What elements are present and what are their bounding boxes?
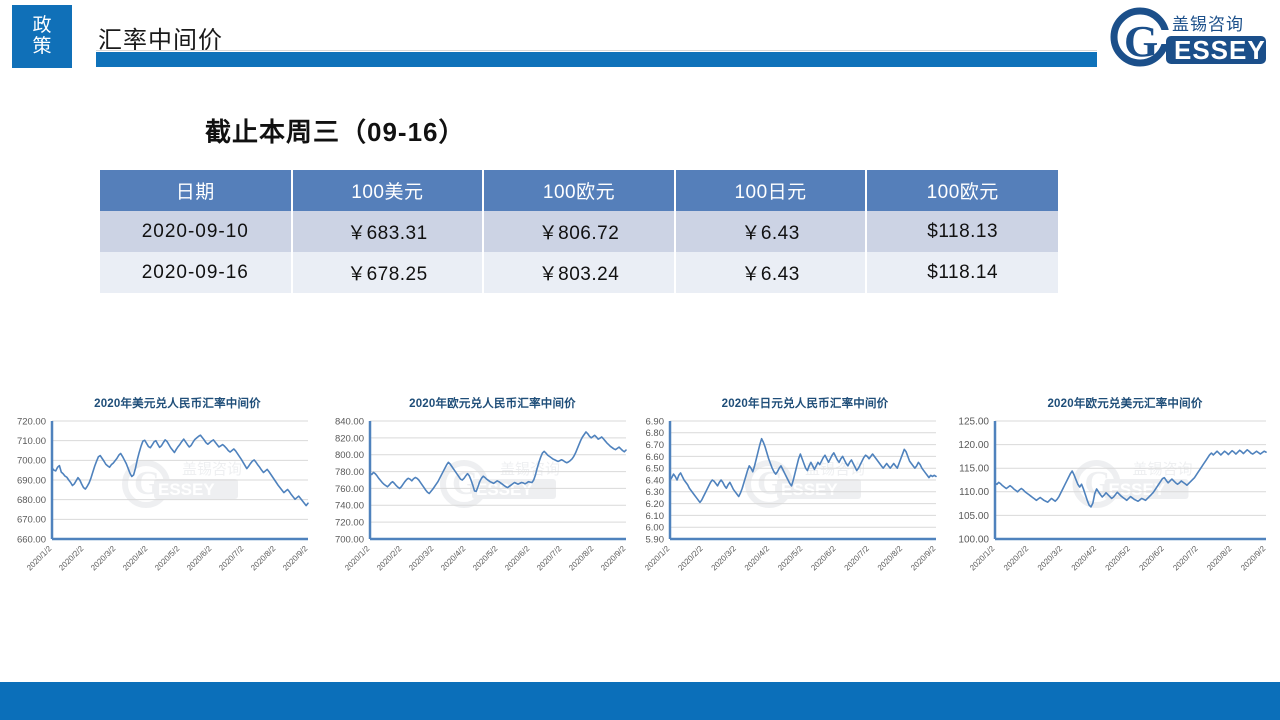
x-axis-tick-label: 2020/8/2 — [876, 544, 905, 573]
x-axis-tick-label: 2020/9/2 — [1239, 544, 1268, 573]
x-axis-tick-label: 2020/3/2 — [407, 544, 436, 573]
x-axis-tick-label: 2020/7/2 — [535, 544, 564, 573]
y-axis-tick-label: 6.10 — [646, 511, 665, 522]
x-axis-tick-label: 2020/1/2 — [25, 544, 54, 573]
y-axis-tick-label: 6.20 — [646, 499, 665, 510]
title-underline-bar — [96, 52, 1097, 67]
x-axis-tick-label: 2020/7/2 — [843, 544, 872, 573]
cell-date: 2020-09-16 — [100, 252, 292, 293]
cell-eurusd: $118.14 — [866, 252, 1058, 293]
x-axis-tick-label: 2020/3/2 — [710, 544, 739, 573]
y-axis-tick-label: 100.00 — [958, 534, 989, 545]
table-col-eurusd: 100欧元 — [866, 170, 1058, 211]
slide-root: 政 策 汇率中间价 G 盖锡咨询 ESSEY 截止本周三（09-16） 日期 1… — [0, 0, 1280, 720]
chart-svg: G盖锡咨询ESSEY660.00670.00680.00690.00700.00… — [0, 411, 320, 601]
x-axis-tick-label: 2020/9/2 — [909, 544, 938, 573]
y-axis-tick-label: 115.00 — [959, 464, 989, 475]
x-axis-tick-label: 2020/5/2 — [153, 544, 182, 573]
title-hairline — [96, 50, 1097, 51]
cell-eurusd: $118.13 — [866, 211, 1058, 252]
y-axis-tick-label: 6.70 — [646, 440, 665, 451]
x-axis-tick-label: 2020/2/2 — [375, 544, 404, 573]
footer-bar — [0, 682, 1280, 720]
table-header-row: 日期 100美元 100欧元 100日元 100欧元 — [100, 170, 1058, 211]
y-axis-tick-label: 680.00 — [17, 495, 46, 506]
y-axis-tick-label: 125.00 — [958, 416, 989, 427]
x-axis-tick-label: 2020/3/2 — [89, 544, 118, 573]
y-axis-tick-label: 6.50 — [646, 464, 665, 475]
x-axis-tick-label: 2020/4/2 — [1070, 544, 1099, 573]
table-row: 2020-09-16 ￥678.25 ￥803.24 ￥6.43 $118.14 — [100, 252, 1058, 293]
y-axis-tick-label: 740.00 — [335, 501, 364, 512]
chart-title: 2020年欧元兑美元汇率中间价 — [935, 395, 1280, 411]
exchange-rate-table: 日期 100美元 100欧元 100日元 100欧元 2020-09-10 ￥6… — [100, 170, 1058, 293]
y-axis-tick-label: 6.60 — [646, 452, 665, 463]
svg-text:盖锡咨询: 盖锡咨询 — [1133, 461, 1193, 478]
svg-text:盖锡咨询: 盖锡咨询 — [182, 461, 242, 478]
cell-eur: ￥806.72 — [483, 211, 675, 252]
chart-plot-area: G盖锡咨询ESSEY5.906.006.106.206.306.406.506.… — [630, 411, 950, 601]
x-axis-tick-label: 2020/5/2 — [1104, 544, 1133, 573]
chart-plot-area: G盖锡咨询ESSEY100.00105.00110.00115.00120.00… — [935, 411, 1280, 601]
x-axis-tick-label: 2020/6/2 — [503, 544, 532, 573]
x-axis-tick-label: 2020/2/2 — [57, 544, 86, 573]
cell-jpy: ￥6.43 — [675, 211, 867, 252]
category-badge-line2: 策 — [32, 37, 51, 58]
y-axis-tick-label: 105.00 — [958, 511, 989, 522]
y-axis-tick-label: 780.00 — [335, 467, 364, 478]
watermark: G盖锡咨询ESSEY — [125, 461, 242, 505]
section-title: 截止本周三（09-16） — [205, 112, 466, 149]
y-axis-tick-label: 700.00 — [17, 456, 46, 467]
y-axis-tick-label: 720.00 — [17, 416, 46, 427]
chart-svg: G盖锡咨询ESSEY700.00720.00740.00760.00780.00… — [320, 411, 640, 601]
x-axis-tick-label: 2020/1/2 — [343, 544, 372, 573]
y-axis-tick-label: 820.00 — [335, 433, 364, 444]
table-col-eur: 100欧元 — [483, 170, 675, 211]
table-col-jpy: 100日元 — [675, 170, 867, 211]
x-axis-tick-label: 2020/1/2 — [643, 544, 672, 573]
y-axis-tick-label: 660.00 — [17, 534, 46, 545]
svg-text:G: G — [1124, 17, 1158, 66]
y-axis-tick-label: 760.00 — [335, 484, 364, 495]
x-axis-tick-label: 2020/5/2 — [776, 544, 805, 573]
y-axis-tick-label: 120.00 — [958, 440, 989, 451]
y-axis-tick-label: 840.00 — [335, 416, 364, 427]
cell-usd: ￥678.25 — [292, 252, 484, 293]
category-badge-line1: 政 — [32, 16, 51, 37]
x-axis-tick-label: 2020/8/2 — [249, 544, 278, 573]
y-axis-tick-label: 700.00 — [335, 534, 364, 545]
x-axis-tick-label: 2020/1/2 — [968, 544, 997, 573]
x-axis-tick-label: 2020/6/2 — [1137, 544, 1166, 573]
x-axis-tick-label: 2020/5/2 — [471, 544, 500, 573]
chart-title: 2020年日元兑人民币汇率中间价 — [630, 395, 950, 411]
table-col-usd: 100美元 — [292, 170, 484, 211]
x-axis-tick-label: 2020/6/2 — [185, 544, 214, 573]
cell-eur: ￥803.24 — [483, 252, 675, 293]
chart-plot-area: G盖锡咨询ESSEY700.00720.00740.00760.00780.00… — [320, 411, 640, 601]
x-axis-tick-label: 2020/8/2 — [1205, 544, 1234, 573]
y-axis-tick-label: 6.80 — [646, 428, 665, 439]
y-axis-tick-label: 110.00 — [959, 487, 989, 498]
chart-eur-cny: 2020年欧元兑人民币汇率中间价 G盖锡咨询ESSEY700.00720.007… — [320, 395, 640, 610]
cell-usd: ￥683.31 — [292, 211, 484, 252]
table-col-date: 日期 — [100, 170, 292, 211]
y-axis-tick-label: 710.00 — [17, 436, 46, 447]
table-row: 2020-09-10 ￥683.31 ￥806.72 ￥6.43 $118.13 — [100, 211, 1058, 252]
svg-text:ESSEY: ESSEY — [1109, 480, 1166, 499]
cell-jpy: ￥6.43 — [675, 252, 867, 293]
y-axis-tick-label: 6.90 — [646, 416, 665, 427]
x-axis-tick-label: 2020/2/2 — [1002, 544, 1031, 573]
x-axis-tick-label: 2020/7/2 — [1171, 544, 1200, 573]
chart-jpy-cny: 2020年日元兑人民币汇率中间价 G盖锡咨询ESSEY5.906.006.106… — [630, 395, 950, 610]
x-axis-tick-label: 2020/9/2 — [599, 544, 628, 573]
chart-title: 2020年美元兑人民币汇率中间价 — [0, 395, 320, 411]
y-axis-tick-label: 690.00 — [17, 475, 46, 486]
x-axis-tick-label: 2020/2/2 — [676, 544, 705, 573]
y-axis-tick-label: 670.00 — [17, 515, 46, 526]
chart-plot-area: G盖锡咨询ESSEY660.00670.00680.00690.00700.00… — [0, 411, 320, 601]
category-badge: 政 策 — [12, 5, 72, 68]
y-axis-tick-label: 800.00 — [335, 450, 364, 461]
cell-date: 2020-09-10 — [100, 211, 292, 252]
gessey-logo-icon: G 盖锡咨询 ESSEY — [1104, 6, 1269, 68]
y-axis-tick-label: 720.00 — [335, 518, 364, 529]
svg-text:盖锡咨询: 盖锡咨询 — [500, 461, 560, 478]
y-axis-tick-label: 6.30 — [646, 487, 665, 498]
y-axis-tick-label: 6.40 — [646, 475, 665, 486]
chart-eur-usd: 2020年欧元兑美元汇率中间价 G盖锡咨询ESSEY100.00105.0011… — [935, 395, 1280, 610]
x-axis-tick-label: 2020/3/2 — [1036, 544, 1065, 573]
x-axis-tick-label: 2020/8/2 — [567, 544, 596, 573]
y-axis-tick-label: 6.00 — [646, 523, 665, 534]
x-axis-tick-label: 2020/6/2 — [809, 544, 838, 573]
chart-svg: G盖锡咨询ESSEY5.906.006.106.206.306.406.506.… — [630, 411, 950, 601]
x-axis-tick-label: 2020/4/2 — [439, 544, 468, 573]
company-logo: G 盖锡咨询 ESSEY — [1104, 6, 1269, 68]
svg-text:盖锡咨询: 盖锡咨询 — [1172, 15, 1244, 34]
chart-usd-cny: 2020年美元兑人民币汇率中间价 G盖锡咨询ESSEY660.00670.006… — [0, 395, 320, 610]
y-axis-tick-label: 5.90 — [646, 534, 665, 545]
svg-text:ESSEY: ESSEY — [1174, 35, 1266, 65]
svg-text:ESSEY: ESSEY — [158, 480, 215, 499]
chart-svg: G盖锡咨询ESSEY100.00105.00110.00115.00120.00… — [935, 411, 1280, 601]
chart-title: 2020年欧元兑人民币汇率中间价 — [320, 395, 640, 411]
x-axis-tick-label: 2020/9/2 — [281, 544, 310, 573]
x-axis-tick-label: 2020/7/2 — [217, 544, 246, 573]
x-axis-tick-label: 2020/4/2 — [743, 544, 772, 573]
x-axis-tick-label: 2020/4/2 — [121, 544, 150, 573]
watermark: G盖锡咨询ESSEY — [748, 461, 865, 505]
